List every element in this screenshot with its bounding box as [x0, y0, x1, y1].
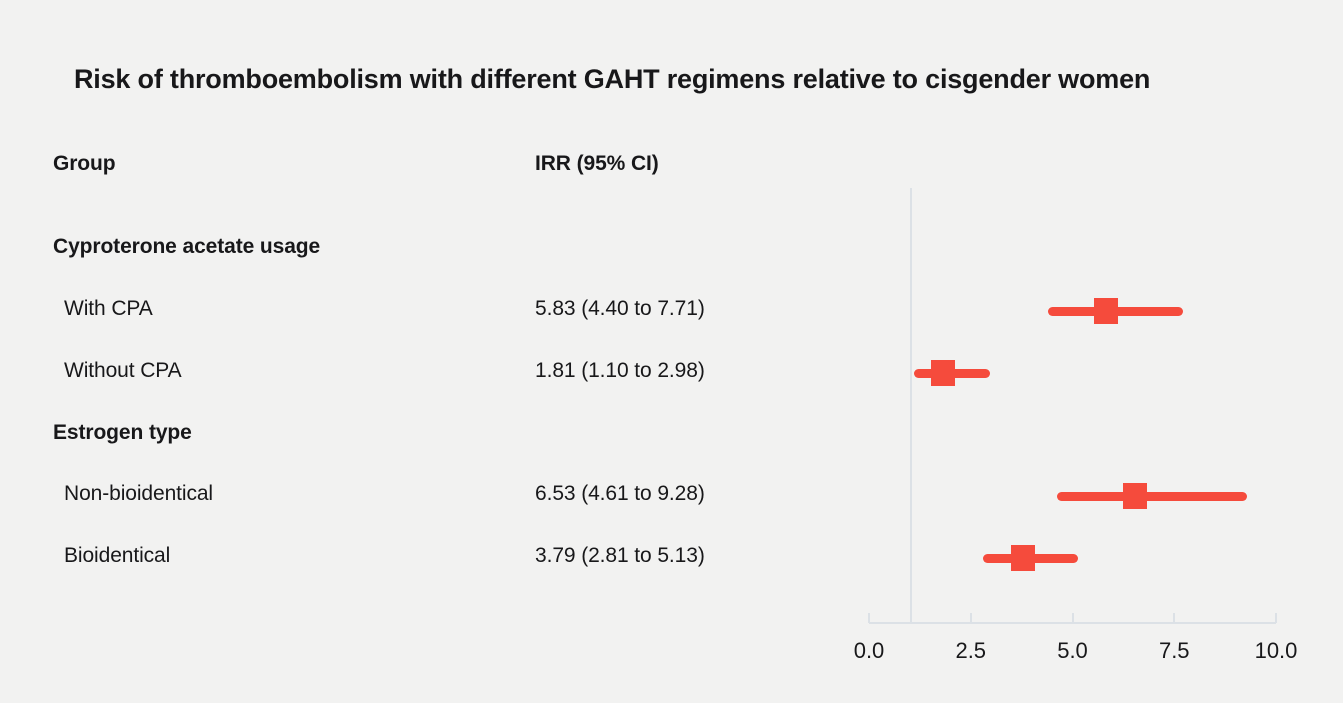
axis-end-cap [868, 613, 870, 623]
row-estimate: 1.81 (1.10 to 2.98) [535, 359, 705, 383]
row-estimate: 6.53 (4.61 to 9.28) [535, 482, 705, 506]
confidence-interval-bar [1057, 492, 1247, 501]
page-title-light: relative to cisgender women [785, 64, 1150, 94]
forest-plot: 0.02.55.07.510.0 [0, 0, 1343, 703]
row-label: Non-bioidentical [64, 482, 213, 506]
reference-line [910, 188, 912, 622]
group-heading: Estrogen type [53, 421, 192, 445]
column-header-group: Group [53, 152, 116, 176]
row-estimate: 3.79 (2.81 to 5.13) [535, 544, 705, 568]
axis-tick-label: 0.0 [854, 638, 885, 664]
axis-end-cap [1275, 613, 1277, 623]
page-title-strong: Risk of thromboembolism with different G… [74, 64, 785, 94]
point-estimate-marker [1094, 298, 1118, 324]
group-heading: Cyproterone acetate usage [53, 235, 320, 259]
axis-tick [970, 613, 972, 623]
row-label: With CPA [64, 297, 153, 321]
point-estimate-marker [1011, 545, 1035, 571]
axis-tick-label: 7.5 [1159, 638, 1190, 664]
axis-tick [1072, 613, 1074, 623]
column-header-estimate: IRR (95% CI) [535, 152, 659, 176]
axis-tick-label: 2.5 [955, 638, 986, 664]
page-title: Risk of thromboembolism with different G… [74, 64, 1150, 95]
axis-tick-label: 5.0 [1057, 638, 1088, 664]
axis-tick-label: 10.0 [1255, 638, 1298, 664]
point-estimate-marker [1123, 483, 1147, 509]
point-estimate-marker [931, 360, 955, 386]
row-label: Bioidentical [64, 544, 170, 568]
axis-tick [1173, 613, 1175, 623]
row-estimate: 5.83 (4.40 to 7.71) [535, 297, 705, 321]
row-label: Without CPA [64, 359, 182, 383]
